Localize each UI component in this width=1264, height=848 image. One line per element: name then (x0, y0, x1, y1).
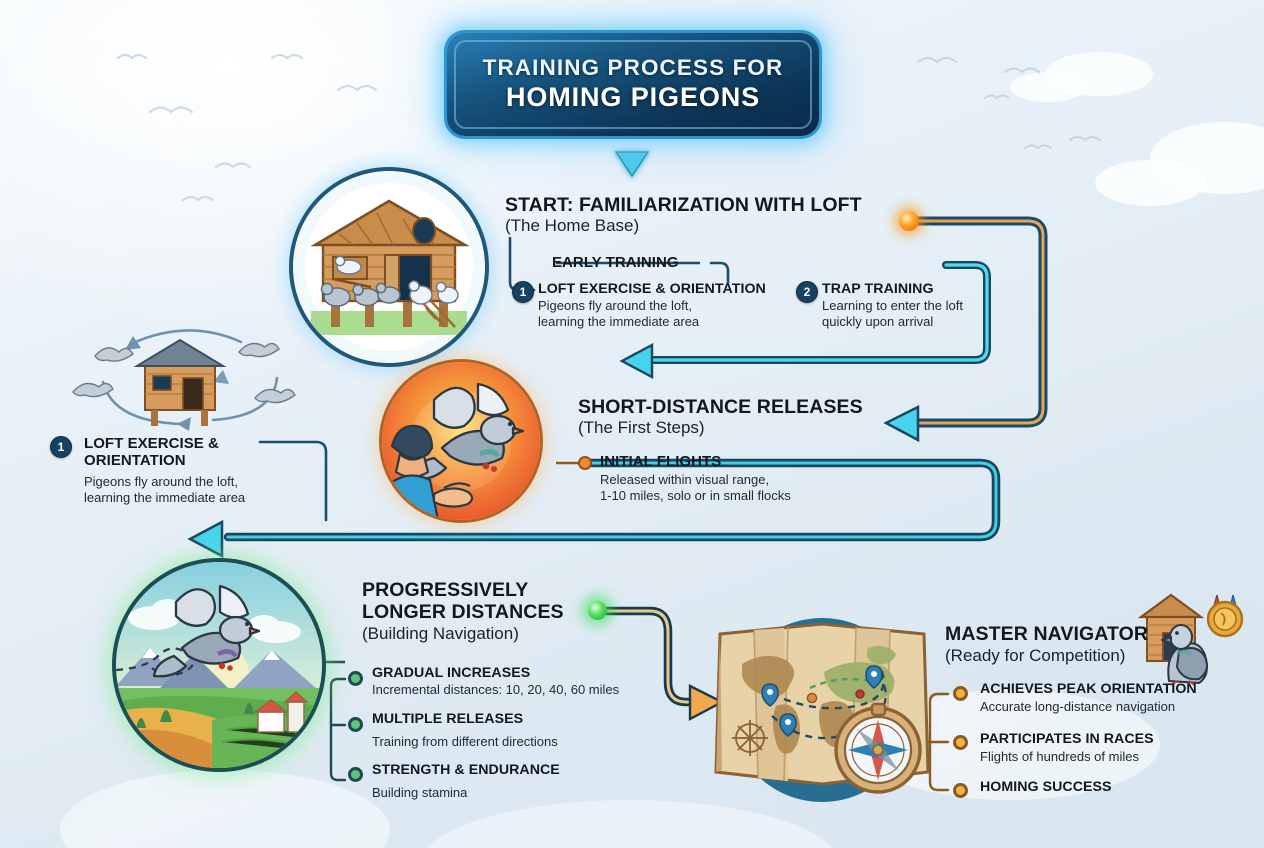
master-item-2-detail: Flights of hundreds of miles (980, 749, 1250, 765)
initial-flights-heading: INITIAL FLIGHTS (600, 454, 860, 471)
start-section-subheading: (The Home Base) (505, 216, 805, 236)
progressive-flow-node (588, 601, 607, 620)
early-training-group-label: EARLY TRAINING (552, 255, 732, 272)
title-line-2: HOMING PIGEONS (506, 82, 760, 113)
bracket-progressive-items (331, 679, 345, 780)
short-distance-subheading: (The First Steps) (578, 418, 858, 438)
infographic-canvas: TRAINING PROCESS FOR HOMING PIGEONS (0, 0, 1264, 848)
progressive-bullet-1 (348, 671, 363, 686)
progressive-subheading: (Building Navigation) (362, 624, 622, 644)
path-progressive-to-master (607, 611, 722, 719)
arrow-title-to-start (616, 139, 648, 176)
start-item-2-detail: Learning to enter the loft quickly upon … (822, 298, 1052, 330)
loft-exercise-left-number: 1 (50, 436, 72, 458)
master-item-2-heading: PARTICIPATES IN RACES (980, 732, 1250, 748)
master-bullet-1 (953, 686, 968, 701)
pigeon-over-countryside-illustration (116, 562, 322, 768)
progressive-item-2-detail: Training from different directions (372, 734, 662, 750)
master-item-3-heading: HOMING SUCCESS (980, 780, 1250, 796)
title-line-1: TRAINING PROCESS FOR (483, 56, 784, 81)
cloud-shape (420, 800, 840, 848)
infographic-title-card: TRAINING PROCESS FOR HOMING PIGEONS (447, 33, 819, 136)
progressive-bullet-3 (348, 767, 363, 782)
initial-flights-bullet (578, 456, 592, 470)
cloud-shape (1095, 160, 1205, 206)
master-item-1-detail: Accurate long-distance navigation (980, 699, 1264, 715)
pigeons-circling-loft-illustration (63, 312, 313, 432)
master-navigator-subheading: (Ready for Competition) (945, 646, 1205, 666)
progressive-item-3-heading: STRENGTH & ENDURANCE (372, 763, 622, 779)
master-bullet-3 (953, 783, 968, 798)
start-section-heading: START: FAMILIARIZATION WITH LOFT (505, 195, 925, 217)
initial-flights-detail: Released within visual range, 1-10 miles… (600, 472, 880, 504)
world-map-compass-illustration (706, 606, 936, 802)
cloud-shape (60, 770, 390, 848)
short-distance-heading: SHORT-DISTANCE RELEASES (578, 397, 958, 419)
start-item-1-number: 1 (512, 281, 534, 303)
progressive-item-2-heading: MULTIPLE RELEASES (372, 712, 612, 728)
progressive-heading: PROGRESSIVELY LONGER DISTANCES (362, 580, 622, 624)
master-bullet-2 (953, 735, 968, 750)
loft-exercise-left-heading: LOFT EXERCISE & ORIENTATION (84, 436, 284, 470)
master-navigator-heading: MASTER NAVIGATOR (945, 624, 1205, 646)
progressive-item-1-detail: Incremental distances: 10, 20, 40, 60 mi… (372, 682, 662, 698)
start-item-1-heading: LOFT EXERCISE & ORIENTATION (538, 282, 798, 298)
start-item-2-heading: TRAP TRAINING (822, 282, 1052, 298)
start-flow-node (899, 211, 919, 231)
pigeon-loft-illustration (293, 171, 485, 363)
master-item-1-heading: ACHIEVES PEAK ORIENTATION (980, 682, 1264, 698)
progressive-item-1-heading: GRADUAL INCREASES (372, 666, 612, 682)
start-item-1-detail: Pigeons fly around the loft, learning th… (538, 298, 798, 330)
cloud-shape (1010, 72, 1086, 102)
progressive-item-3-detail: Building stamina (372, 785, 622, 801)
progressive-bullet-2 (348, 717, 363, 732)
handler-releasing-pigeon-illustration (382, 362, 540, 520)
start-item-2-number: 2 (796, 281, 818, 303)
loft-exercise-left-detail: Pigeons fly around the loft, learning th… (84, 474, 304, 506)
